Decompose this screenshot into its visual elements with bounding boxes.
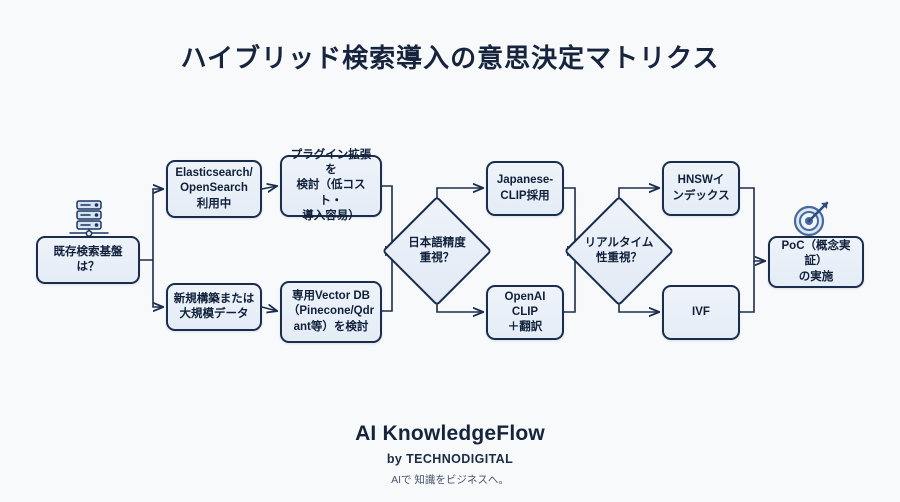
brand-byline: by TECHNODIGITAL xyxy=(0,452,900,466)
node-poc-label: PoC（概念実証）の実施 xyxy=(775,239,857,285)
node-start[interactable]: 既存検索基盤は？ xyxy=(36,236,140,284)
node-poc[interactable]: PoC（概念実証）の実施 xyxy=(768,236,864,288)
edge-start-newbuild xyxy=(153,260,163,307)
edge-newbuild-vectordb xyxy=(262,307,277,311)
edge-start-es xyxy=(140,189,163,260)
diagram-canvas: ハイブリッド検索導入の意思決定マトリクス xyxy=(0,0,900,502)
node-elasticsearch-opensearch[interactable]: Elasticsearch/OpenSearch利用中 xyxy=(166,160,262,218)
edge-ivf-poc xyxy=(740,261,754,312)
node-plugin-extension[interactable]: プラグイン拡張を検討（低コスト・導入容易） xyxy=(280,155,382,217)
node-dedicated-vector-db-label: 専用Vector DB（Pinecone/Qdrant等）を検討 xyxy=(288,289,374,335)
node-start-label: 既存検索基盤は？ xyxy=(43,245,133,275)
node-hnsw-index-label: HNSWインデックス xyxy=(672,173,729,203)
target-dart-icon xyxy=(790,196,834,240)
node-elasticsearch-opensearch-label: Elasticsearch/OpenSearch利用中 xyxy=(175,166,252,212)
node-ivf-label: IVF xyxy=(692,305,710,320)
node-hnsw-index[interactable]: HNSWインデックス xyxy=(662,161,740,216)
brand-tagline: AIで 知識をビジネスへ。 xyxy=(0,472,900,487)
node-japanese-clip-label: Japanese-CLIP採用 xyxy=(497,173,553,203)
node-new-build-label: 新規構築または大規模データ xyxy=(174,292,255,322)
edge-hnsw-poc xyxy=(740,188,765,261)
node-dedicated-vector-db[interactable]: 専用Vector DB（Pinecone/Qdrant等）を検討 xyxy=(280,281,382,343)
node-openai-clip-label: OpenAI CLIP＋翻訳 xyxy=(493,290,557,336)
node-new-build[interactable]: 新規構築または大規模データ xyxy=(166,283,262,331)
node-japanese-clip[interactable]: Japanese-CLIP採用 xyxy=(486,161,564,216)
server-database-icon xyxy=(66,194,112,240)
brand-title: AI KnowledgeFlow xyxy=(0,422,900,446)
node-plugin-extension-label: プラグイン拡張を検討（低コスト・導入容易） xyxy=(287,148,375,224)
node-openai-clip[interactable]: OpenAI CLIP＋翻訳 xyxy=(486,285,564,340)
node-ivf[interactable]: IVF xyxy=(662,285,740,340)
edge-es-plugin xyxy=(262,186,277,189)
